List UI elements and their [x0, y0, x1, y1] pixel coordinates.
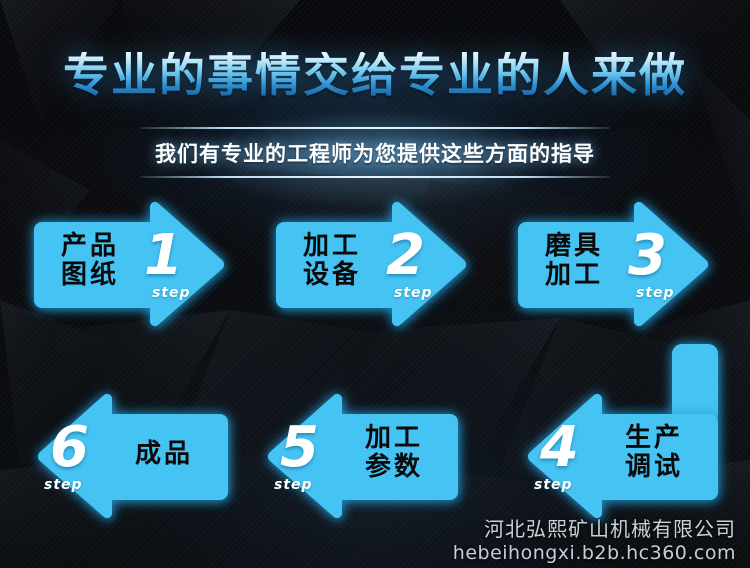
step-4[interactable]: 4 step 生产 调试 — [484, 396, 726, 518]
page-subtitle: 我们有专业的工程师为您提供这些方面的指导 — [140, 129, 610, 176]
step-6-number: 6 — [50, 420, 89, 476]
company-url[interactable]: hebeihongxi.b2b.hc360.com — [453, 542, 736, 564]
step-4-number: 4 — [540, 420, 579, 476]
step-3[interactable]: 磨具 加工 3 step — [510, 204, 710, 326]
step-6[interactable]: 6 step 成品 — [24, 396, 236, 518]
step-5-label: 加工 参数 — [342, 424, 446, 482]
step-4-label: 生产 调试 — [602, 424, 706, 482]
step-2-step-word: step — [394, 286, 433, 300]
step-1[interactable]: 产品 图纸 1 step — [26, 204, 226, 326]
step-4-step-word: step — [534, 478, 573, 492]
step-5-number: 5 — [280, 420, 319, 476]
subtitle-block: 我们有专业的工程师为您提供这些方面的指导 — [140, 127, 610, 178]
promo-banner: 专业的事情交给专业的人来做 我们有专业的工程师为您提供这些方面的指导 产品 图纸… — [0, 0, 750, 568]
step-3-number: 3 — [628, 228, 667, 284]
company-name: 河北弘熙矿山机械有限公司 — [484, 513, 736, 542]
step-2-number: 2 — [386, 228, 425, 284]
step-1-step-word: step — [152, 286, 191, 300]
divider-bottom — [140, 176, 610, 178]
step-5[interactable]: 5 step 加工 参数 — [254, 396, 466, 518]
step-6-label: 成品 — [112, 440, 216, 469]
step-2[interactable]: 加工 设备 2 step — [268, 204, 468, 326]
step-1-number: 1 — [144, 228, 183, 284]
page-title: 专业的事情交给专业的人来做 — [0, 52, 750, 98]
step-3-step-word: step — [636, 286, 675, 300]
step-6-step-word: step — [44, 478, 83, 492]
step-2-label: 加工 设备 — [284, 232, 380, 290]
step-5-step-word: step — [274, 478, 313, 492]
step-1-label: 产品 图纸 — [42, 232, 138, 290]
step-3-label: 磨具 加工 — [526, 232, 622, 290]
